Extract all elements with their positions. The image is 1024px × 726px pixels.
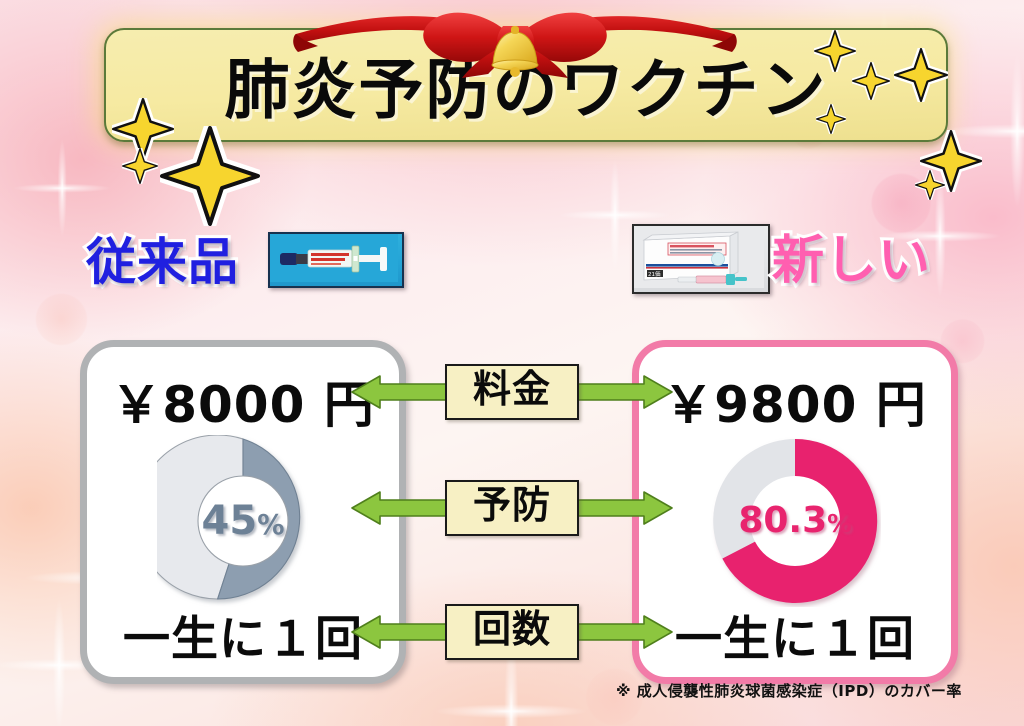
- arrow-right-icon: [566, 491, 674, 525]
- donut-chart-new: 80.3%: [709, 435, 881, 607]
- svg-text:21価: 21価: [648, 270, 661, 278]
- poster-root: 肺炎予防のワクチン: [0, 0, 1024, 726]
- compare-chip-price: 料金: [445, 364, 579, 419]
- arrow-left-icon: [350, 375, 458, 409]
- compare-chip-prevention: 予防: [445, 480, 579, 535]
- frequency-new: 一生に１回: [639, 600, 951, 669]
- product-label-new: 新しい: [772, 218, 931, 293]
- page-title: 肺炎予防のワクチン: [224, 58, 827, 123]
- compare-row-frequency: 回数: [352, 604, 672, 660]
- price-new: ￥9800 円: [639, 365, 951, 437]
- product-label-old: 従来品: [86, 222, 239, 294]
- product-photo-new: 21価: [632, 224, 770, 294]
- arrow-left-icon: [350, 615, 458, 649]
- compare-chip-frequency: 回数: [445, 604, 579, 659]
- compare-row-prevention: 予防: [352, 480, 672, 536]
- footnote: ※ 成人侵襲性肺炎球菌感染症（IPD）のカバー率: [616, 680, 962, 701]
- comparison-card-new[interactable]: ￥9800 円 80.3% 一生に１: [632, 340, 958, 684]
- arrow-right-icon: [566, 615, 674, 649]
- compare-row-price: 料金: [352, 364, 672, 420]
- title-banner: 肺炎予防のワクチン: [104, 28, 948, 142]
- product-photo-old: [268, 232, 404, 288]
- arrow-right-icon: [566, 375, 674, 409]
- donut-chart-old: 45%: [157, 435, 329, 607]
- arrow-left-icon: [350, 491, 458, 525]
